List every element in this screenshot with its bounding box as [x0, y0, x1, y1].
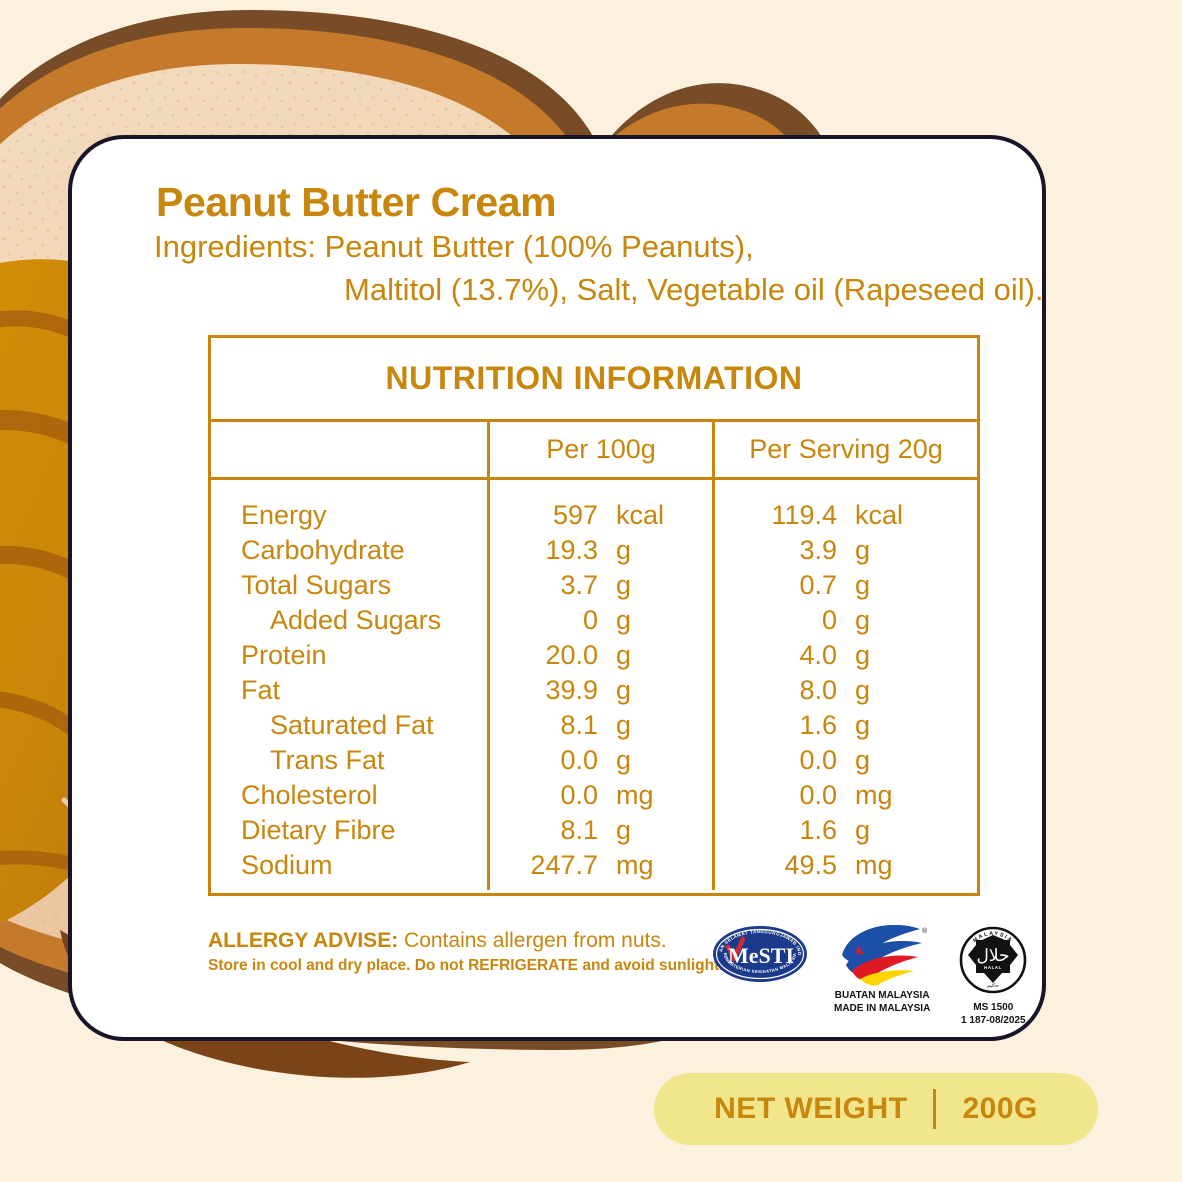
per-100g-value: 3.7 [490, 568, 598, 603]
per-100g-unit: g [598, 638, 631, 673]
per-100g-value-row: 3.7g [490, 568, 712, 603]
made-in-malaysia-icon: ® [836, 925, 928, 987]
allergy-advice-line: ALLERGY ADVISE: Contains allergen from n… [208, 929, 738, 953]
malaysia-caption-line2: MADE IN MALAYSIA [834, 1003, 930, 1016]
nutrient-name: Total Sugars [241, 568, 487, 603]
made-in-malaysia-certification: ® BUATAN MALAYSIA MADE IN MALAYSIA [834, 925, 930, 1015]
halal-certification: MALAYSIA حلال HALAL جاكيم MS 1500 1 187-… [956, 925, 1030, 1027]
svg-text:حلال: حلال [977, 946, 1010, 965]
net-weight-label: NET WEIGHT [714, 1092, 907, 1126]
per-100g-unit: g [598, 673, 631, 708]
storage-instructions: Store in cool and dry place. Do not REFR… [208, 957, 738, 975]
halal-icon: MALAYSIA حلال HALAL جاكيم [956, 925, 1030, 999]
per-100g-value-row: 0.0mg [490, 778, 712, 813]
per-100g-value: 19.3 [490, 533, 598, 568]
per-100g-value: 597 [490, 498, 598, 533]
column-header-blank [211, 422, 490, 477]
per-100g-unit: g [598, 568, 631, 603]
per-serving-unit: mg [837, 848, 893, 883]
per-100g-unit: g [598, 743, 631, 778]
per-serving-value-row: 0g [715, 603, 977, 638]
per-serving-value-row: 4.0g [715, 638, 977, 673]
allergy-advice-block: ALLERGY ADVISE: Contains allergen from n… [208, 929, 738, 975]
per-100g-unit: g [598, 813, 631, 848]
per-serving-column: 119.4kcal3.9g0.7g0g4.0g8.0g1.6g0.0g0.0mg… [715, 480, 977, 890]
per-serving-unit: g [837, 533, 870, 568]
net-weight-value: 200G [962, 1092, 1037, 1126]
per-serving-value: 0.7 [715, 568, 837, 603]
product-title: Peanut Butter Cream [156, 179, 556, 226]
per-100g-unit: kcal [598, 498, 664, 533]
per-100g-value-row: 0g [490, 603, 712, 638]
per-serving-value: 119.4 [715, 498, 837, 533]
made-in-malaysia-caption: BUATAN MALAYSIA MADE IN MALAYSIA [834, 990, 930, 1015]
nutrient-name: Sodium [241, 848, 487, 883]
per-100g-value: 20.0 [490, 638, 598, 673]
nutrition-table-body: EnergyCarbohydrateTotal SugarsAdded Suga… [211, 480, 977, 890]
mesti-certification: MAKANAN SELAMAT TANGGUNGJAWAB INDUSTRI K… [712, 925, 808, 986]
per-serving-unit: g [837, 743, 870, 778]
nutrition-table-column-headers: Per 100g Per Serving 20g [211, 422, 977, 480]
per-100g-value: 0.0 [490, 743, 598, 778]
net-weight-badge: NET WEIGHT 200G [654, 1073, 1098, 1145]
halal-caption: MS 1500 1 187-08/2025 [961, 1002, 1026, 1027]
nutrient-name: Cholesterol [241, 778, 487, 813]
per-serving-value-row: 3.9g [715, 533, 977, 568]
allergy-advice-heading: ALLERGY ADVISE: [208, 929, 398, 952]
per-serving-unit: g [837, 813, 870, 848]
svg-text:جاكيم: جاكيم [987, 983, 999, 989]
per-100g-value-row: 39.9g [490, 673, 712, 708]
certification-logos: MAKANAN SELAMAT TANGGUNGJAWAB INDUSTRI K… [712, 925, 1030, 1027]
per-100g-value: 39.9 [490, 673, 598, 708]
per-100g-value: 0.0 [490, 778, 598, 813]
per-serving-value-row: 1.6g [715, 708, 977, 743]
svg-text:®: ® [922, 927, 928, 935]
per-serving-value: 0.0 [715, 743, 837, 778]
nutrition-information-table: NUTRITION INFORMATION Per 100g Per Servi… [208, 335, 980, 896]
allergy-advice-text: Contains allergen from nuts. [398, 929, 666, 952]
ingredients-line-2: Maltitol (13.7%), Salt, Vegetable oil (R… [344, 272, 1044, 308]
per-100g-value: 0 [490, 603, 598, 638]
per-100g-unit: g [598, 708, 631, 743]
per-serving-value-row: 0.7g [715, 568, 977, 603]
per-serving-value: 1.6 [715, 708, 837, 743]
per-100g-value-row: 247.7mg [490, 848, 712, 883]
per-serving-value: 4.0 [715, 638, 837, 673]
per-serving-value: 0.0 [715, 778, 837, 813]
per-serving-value-row: 0.0g [715, 743, 977, 778]
per-serving-value: 49.5 [715, 848, 837, 883]
per-100g-value: 247.7 [490, 848, 598, 883]
per-100g-value-row: 8.1g [490, 813, 712, 848]
nutrient-name: Fat [241, 673, 487, 708]
halal-caption-line2: 1 187-08/2025 [961, 1015, 1026, 1028]
per-100g-value-row: 20.0g [490, 638, 712, 673]
per-100g-value-row: 0.0g [490, 743, 712, 778]
per-100g-column: 597kcal19.3g3.7g0g20.0g39.9g8.1g0.0g0.0m… [490, 480, 715, 890]
per-serving-value-row: 119.4kcal [715, 498, 977, 533]
per-serving-value-row: 49.5mg [715, 848, 977, 883]
per-serving-value-row: 8.0g [715, 673, 977, 708]
nutrition-table-title: NUTRITION INFORMATION [211, 338, 977, 422]
per-serving-value: 1.6 [715, 813, 837, 848]
per-serving-value: 3.9 [715, 533, 837, 568]
per-serving-value-row: 0.0mg [715, 778, 977, 813]
per-100g-unit: mg [598, 778, 654, 813]
malaysia-caption-line1: BUATAN MALAYSIA [834, 990, 930, 1003]
column-header-per-100g: Per 100g [490, 422, 715, 477]
per-100g-value-row: 8.1g [490, 708, 712, 743]
svg-text:HALAL: HALAL [984, 965, 1002, 970]
per-serving-value-row: 1.6g [715, 813, 977, 848]
nutrient-name: Trans Fat [241, 743, 487, 778]
per-100g-unit: g [598, 533, 631, 568]
per-serving-unit: g [837, 708, 870, 743]
per-100g-value-row: 19.3g [490, 533, 712, 568]
per-100g-unit: mg [598, 848, 654, 883]
per-100g-value: 8.1 [490, 813, 598, 848]
per-serving-value: 8.0 [715, 673, 837, 708]
ingredients-line-1: Ingredients: Peanut Butter (100% Peanuts… [154, 229, 754, 265]
per-serving-unit: g [837, 638, 870, 673]
per-serving-unit: g [837, 673, 870, 708]
column-header-per-serving: Per Serving 20g [715, 422, 977, 477]
per-serving-unit: kcal [837, 498, 903, 533]
per-serving-unit: g [837, 603, 870, 638]
nutrient-name: Dietary Fibre [241, 813, 487, 848]
nutrition-label-card: Peanut Butter Cream Ingredients: Peanut … [68, 135, 1046, 1041]
svg-text:MeSTI: MeSTI [728, 943, 794, 968]
per-serving-unit: g [837, 568, 870, 603]
per-100g-value-row: 597kcal [490, 498, 712, 533]
nutrient-name: Carbohydrate [241, 533, 487, 568]
halal-caption-line1: MS 1500 [961, 1002, 1026, 1015]
mesti-icon: MAKANAN SELAMAT TANGGUNGJAWAB INDUSTRI K… [712, 925, 808, 983]
per-serving-value: 0 [715, 603, 837, 638]
per-serving-unit: mg [837, 778, 893, 813]
nutrient-name: Energy [241, 498, 487, 533]
nutrient-name: Saturated Fat [241, 708, 487, 743]
nutrient-name: Added Sugars [241, 603, 487, 638]
nutrient-name-column: EnergyCarbohydrateTotal SugarsAdded Suga… [211, 480, 490, 890]
net-weight-separator [933, 1089, 936, 1129]
per-100g-unit: g [598, 603, 631, 638]
nutrient-name: Protein [241, 638, 487, 673]
per-100g-value: 8.1 [490, 708, 598, 743]
